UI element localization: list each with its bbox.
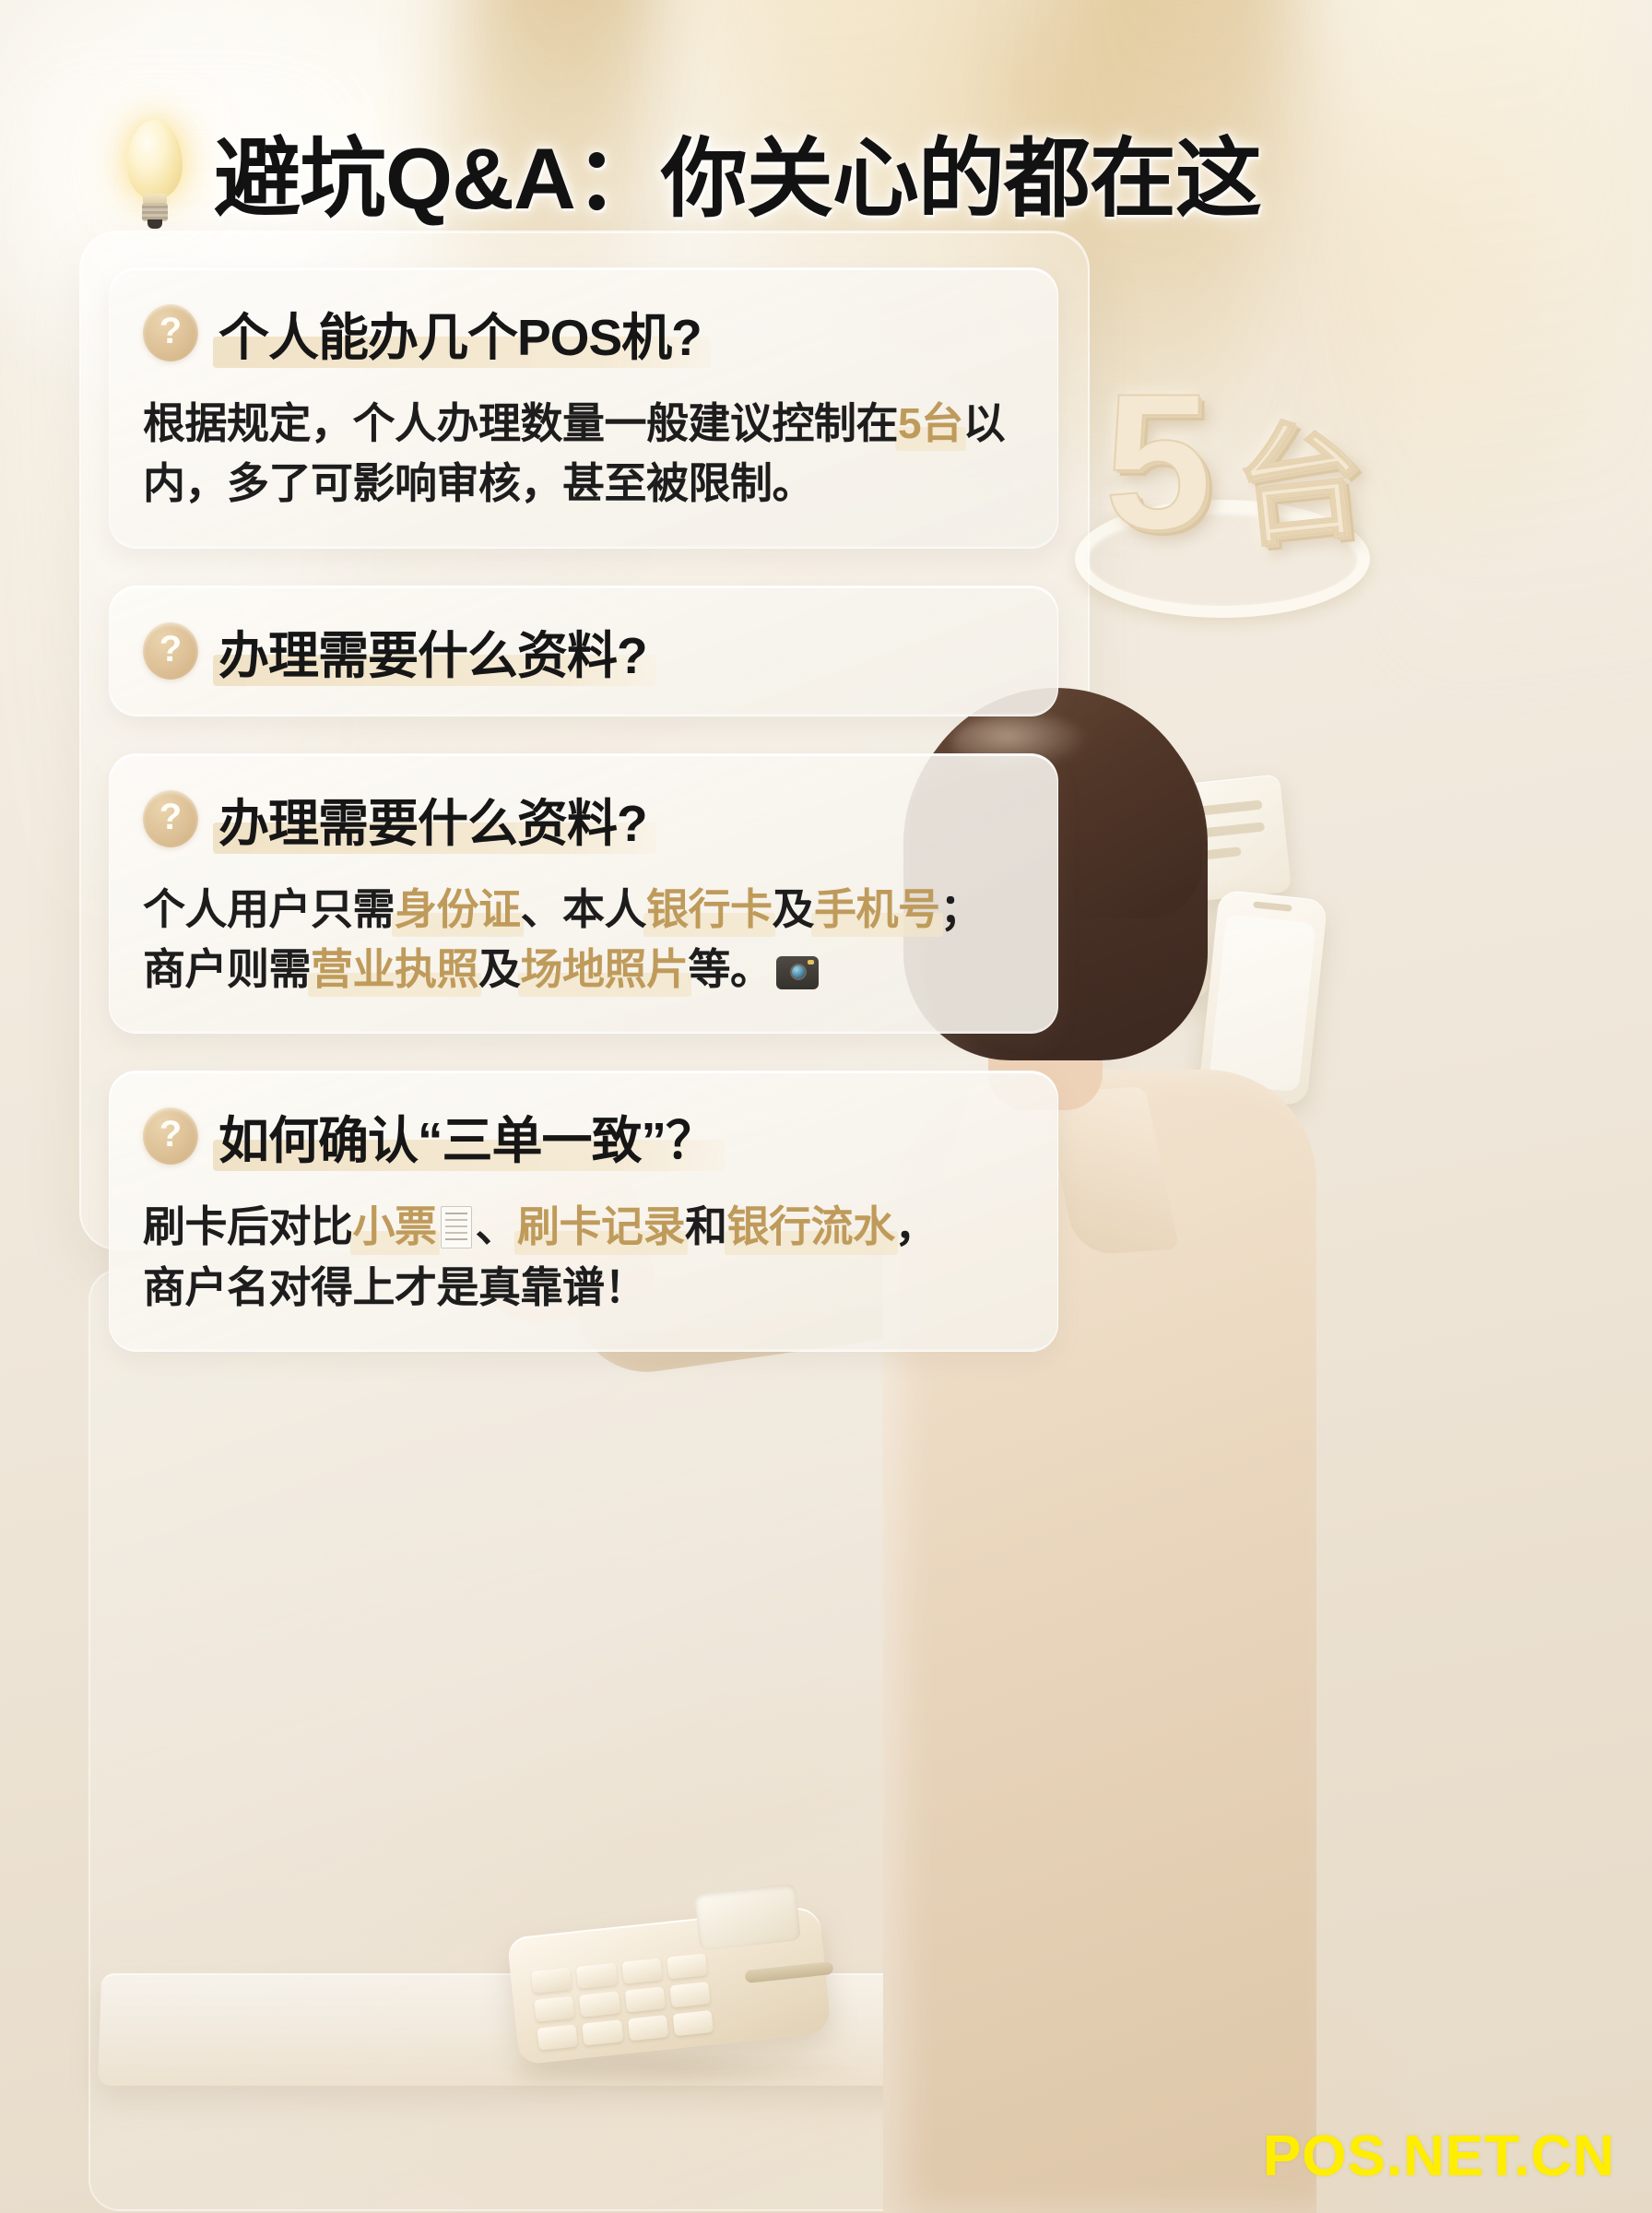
pos-key bbox=[672, 2010, 714, 2036]
lightbulb-icon bbox=[120, 120, 190, 229]
answer-keyword: 手机号 bbox=[814, 880, 940, 940]
lightbulb-base bbox=[142, 203, 168, 221]
page-header: 避坑Q&A：你关心的都在这 bbox=[0, 89, 1652, 254]
pos-key bbox=[576, 1963, 618, 1989]
answer-text-run: 商户则需 bbox=[143, 945, 311, 993]
answer-text-run: 及 bbox=[478, 945, 521, 993]
qa-card[interactable]: ?如何确认“三单一致”？刷卡后对比小票、刷卡记录和银行流水，商户名对得上才是真靠… bbox=[109, 1071, 1058, 1352]
qa-card-list: ?个人能办几个POS机?根据规定，个人办理数量一般建议控制在5台以内，多了可影响… bbox=[109, 267, 1058, 1389]
camera-icon bbox=[776, 956, 819, 989]
question-mark-icon: ? bbox=[143, 304, 198, 361]
qa-question-row[interactable]: ?如何确认“三单一致”？ bbox=[143, 1099, 1021, 1173]
page-title: 避坑Q&A：你关心的都在这 bbox=[214, 109, 1261, 234]
question-mark-icon: ? bbox=[143, 790, 198, 847]
site-watermark: POS.NET.CN bbox=[1263, 2124, 1615, 2189]
qa-question-row[interactable]: ?办理需要什么资料? bbox=[143, 614, 1021, 688]
qa-answer-text: 个人用户只需身份证、本人银行卡及手机号；商户则需营业执照及场地照片等。 bbox=[143, 880, 1021, 1000]
answer-text-run: 等。 bbox=[689, 945, 773, 993]
answer-text-run: 、 bbox=[476, 1202, 518, 1250]
answer-keyword: 营业执照 bbox=[311, 940, 478, 1000]
answer-keyword: 小票 bbox=[353, 1197, 437, 1257]
pos-key bbox=[531, 1968, 572, 1994]
pos-screen bbox=[694, 1883, 801, 1950]
pos-key bbox=[579, 1991, 620, 2017]
qa-question-text: 个人能办几个POS机? bbox=[218, 296, 702, 370]
qa-answer-text: 根据规定，个人办理数量一般建议控制在5台以内，多了可影响审核，甚至被限制。 bbox=[143, 394, 1021, 515]
answer-keyword: 5台 bbox=[898, 394, 963, 454]
qa-question-text: 办理需要什么资料? bbox=[218, 614, 647, 688]
pos-key bbox=[534, 1996, 575, 2022]
answer-text-run: 、本人 bbox=[521, 885, 647, 933]
answer-text-run: ； bbox=[940, 885, 983, 933]
question-mark-icon: ? bbox=[143, 622, 198, 680]
answer-text-run: 个人用户只需 bbox=[143, 885, 395, 933]
qa-card[interactable]: ?办理需要什么资料? bbox=[109, 586, 1058, 716]
answer-keyword: 身份证 bbox=[395, 880, 521, 940]
pos-key bbox=[582, 2019, 623, 2045]
answer-text-run: 及 bbox=[773, 885, 815, 933]
question-mark-icon: ? bbox=[143, 1107, 198, 1165]
qa-question-row[interactable]: ?办理需要什么资料? bbox=[143, 782, 1021, 856]
lightbulb-glass bbox=[127, 120, 183, 199]
answer-text-run: 和 bbox=[685, 1202, 727, 1250]
pos-key bbox=[621, 1958, 663, 1983]
pos-key bbox=[669, 1982, 711, 2007]
qa-question-row[interactable]: ?个人能办几个POS机? bbox=[143, 296, 1021, 370]
answer-keyword: 银行卡 bbox=[646, 880, 773, 940]
pos-key bbox=[537, 2024, 579, 2050]
answer-text-run: 刷卡后对比 bbox=[143, 1202, 353, 1250]
lightbulb-tip bbox=[147, 219, 162, 229]
receipt-icon bbox=[441, 1206, 472, 1249]
pos-key bbox=[667, 1953, 708, 1979]
answer-text-run: ， bbox=[895, 1202, 938, 1250]
qa-card[interactable]: ?办理需要什么资料?个人用户只需身份证、本人银行卡及手机号；商户则需营业执照及场… bbox=[109, 753, 1058, 1035]
qa-question-text: 如何确认“三单一致”？ bbox=[218, 1099, 715, 1173]
answer-text-run: 商户名对得上才是真靠谱！ bbox=[143, 1263, 646, 1311]
answer-text-run: 根据规定，个人办理数量一般建议控制在 bbox=[143, 399, 898, 447]
answer-keyword: 银行流水 bbox=[727, 1197, 895, 1257]
pos-key bbox=[627, 2015, 668, 2041]
qa-card[interactable]: ?个人能办几个POS机?根据规定，个人办理数量一般建议控制在5台以内，多了可影响… bbox=[109, 267, 1058, 549]
qa-answer-text: 刷卡后对比小票、刷卡记录和银行流水，商户名对得上才是真靠谱！ bbox=[143, 1197, 1021, 1318]
qa-question-text: 办理需要什么资料? bbox=[218, 782, 647, 856]
answer-keyword: 刷卡记录 bbox=[517, 1197, 685, 1257]
pos-key bbox=[624, 1986, 666, 2012]
answer-keyword: 场地照片 bbox=[521, 940, 689, 1000]
pos-terminal-illustration bbox=[513, 1877, 900, 2108]
